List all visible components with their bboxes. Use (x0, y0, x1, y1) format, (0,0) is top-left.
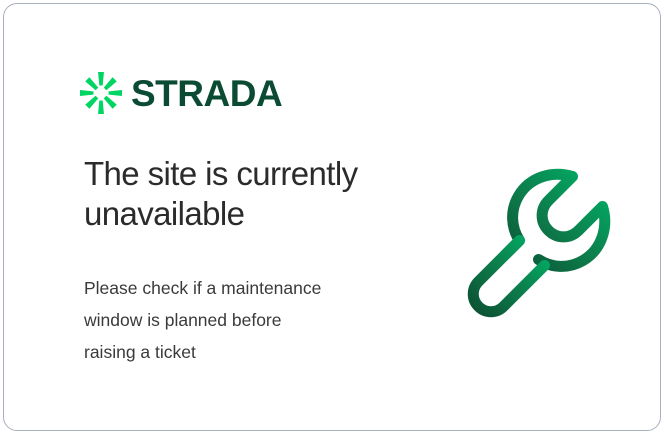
wrench-icon (456, 154, 624, 322)
description-line: Please check if a maintenance (84, 272, 404, 304)
description-line: raising a ticket (84, 336, 404, 368)
page-title: The site is currently unavailable (84, 154, 414, 234)
status-card: STRADA The site is currently unavailable… (3, 3, 661, 431)
description-line: window is planned before (84, 304, 404, 336)
brand-logo: STRADA (80, 72, 282, 114)
page-description: Please check if a maintenance window is … (84, 272, 404, 368)
brand-wordmark: STRADA (131, 75, 282, 112)
error-page: STRADA The site is currently unavailable… (0, 0, 666, 436)
strada-asterisk-icon (80, 72, 122, 114)
